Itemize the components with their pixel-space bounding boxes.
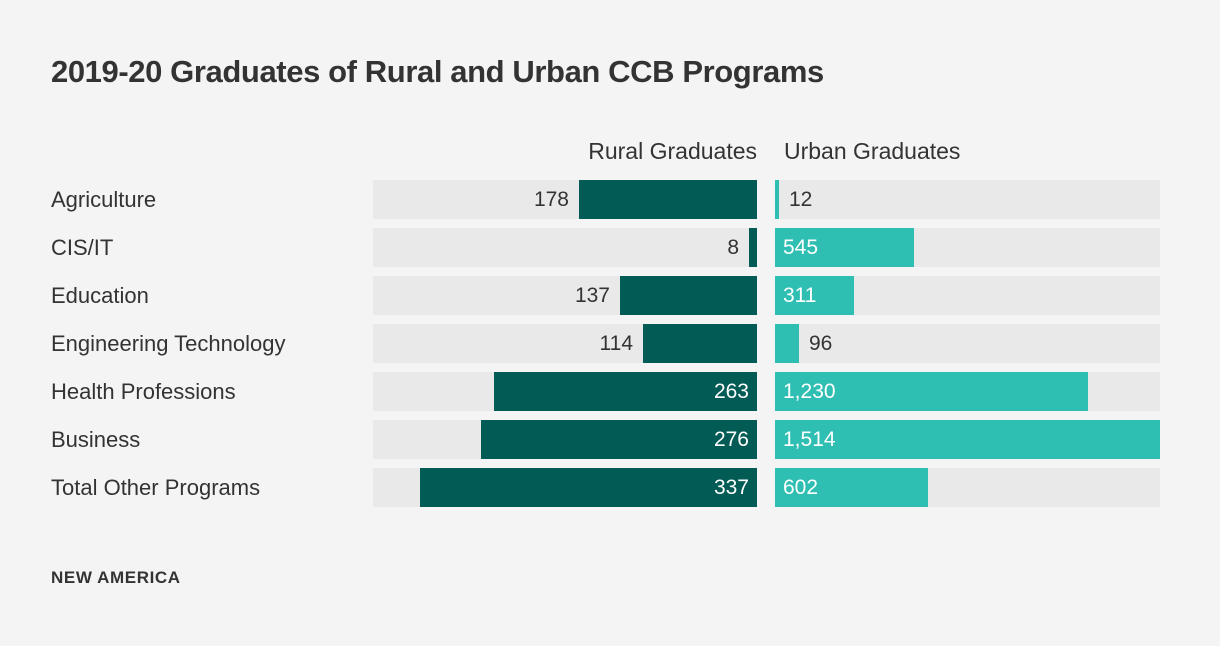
row-category-label: Business [51,420,140,459]
chart-row: Education137311 [0,276,1220,315]
rural-bar-track: 337 [373,468,757,507]
urban-value-label: 96 [809,324,832,363]
row-category-label: Agriculture [51,180,156,219]
urban-bar [775,324,799,363]
urban-bar-track: 96 [775,324,1160,363]
chart-row: Total Other Programs337602 [0,468,1220,507]
chart-row: Agriculture17812 [0,180,1220,219]
column-header-rural: Rural Graduates [373,136,757,166]
rural-bar [620,276,757,315]
rural-bar-track: 178 [373,180,757,219]
urban-bar-track: 545 [775,228,1160,267]
rural-value-label: 276 [714,420,749,459]
row-category-label: Engineering Technology [51,324,285,363]
rural-bar-track: 114 [373,324,757,363]
urban-value-label: 545 [783,228,818,267]
chart-rows: Agriculture17812CIS/IT8545Education13731… [0,180,1220,516]
rural-value-label: 337 [714,468,749,507]
urban-bar-track: 1,514 [775,420,1160,459]
urban-value-label: 1,514 [783,420,836,459]
rural-bar-track: 137 [373,276,757,315]
chart-row: Health Professions2631,230 [0,372,1220,411]
urban-bar-track: 12 [775,180,1160,219]
new-america-logo: NEW AMERICA [51,568,181,588]
chart-title: 2019-20 Graduates of Rural and Urban CCB… [51,52,824,92]
chart-row: Engineering Technology11496 [0,324,1220,363]
chart-row: Business2761,514 [0,420,1220,459]
rural-value-label: 178 [534,180,569,219]
urban-bar-track: 602 [775,468,1160,507]
rural-bar-track: 276 [373,420,757,459]
urban-bar [775,180,779,219]
row-category-label: Education [51,276,149,315]
rural-bar [579,180,757,219]
urban-bar-track: 1,230 [775,372,1160,411]
rural-bar [749,228,757,267]
urban-value-label: 602 [783,468,818,507]
urban-value-label: 1,230 [783,372,836,411]
column-header-urban: Urban Graduates [784,136,960,166]
rural-bar-track: 8 [373,228,757,267]
chart-container: 2019-20 Graduates of Rural and Urban CCB… [0,0,1220,646]
urban-value-label: 311 [783,276,816,315]
rural-value-label: 114 [600,324,633,363]
rural-bar-track: 263 [373,372,757,411]
urban-bar-track: 311 [775,276,1160,315]
row-category-label: Health Professions [51,372,236,411]
rural-value-label: 263 [714,372,749,411]
rural-value-label: 8 [727,228,739,267]
rural-bar [643,324,757,363]
chart-row: CIS/IT8545 [0,228,1220,267]
row-category-label: CIS/IT [51,228,113,267]
rural-value-label: 137 [575,276,610,315]
row-category-label: Total Other Programs [51,468,260,507]
urban-value-label: 12 [789,180,812,219]
rural-bar [420,468,757,507]
